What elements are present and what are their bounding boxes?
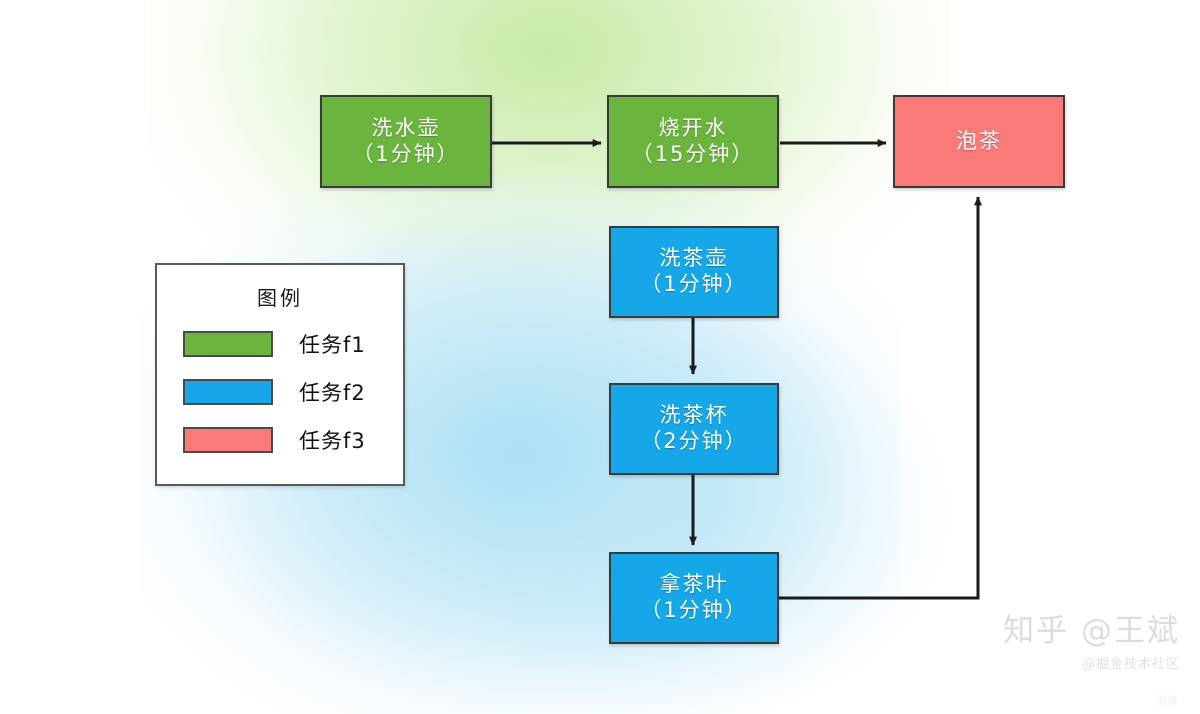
node-make-tea-name: 泡茶	[956, 129, 1002, 155]
edge-get-tealeaf-to-make-tea	[778, 197, 978, 598]
node-get-tealeaf[interactable]: 拿茶叶 （1分钟）	[609, 552, 779, 644]
background-glow-blue-secondary	[430, 300, 950, 714]
legend-item-f1: 任务f1	[157, 329, 403, 359]
node-boil-water[interactable]: 烧开水 （15分钟）	[607, 95, 779, 188]
legend-swatch-f2	[183, 379, 273, 405]
node-boil-water-duration: （15分钟）	[632, 142, 755, 168]
watermark-main-text: 知乎 @王斌	[1003, 616, 1180, 647]
node-get-tealeaf-duration: （1分钟）	[640, 598, 747, 624]
node-wash-kettle-duration: （1分钟）	[352, 142, 459, 168]
node-wash-teacup-duration: （2分钟）	[640, 429, 747, 455]
node-wash-teacup-name: 洗茶杯	[660, 403, 729, 429]
node-wash-teapot-duration: （1分钟）	[640, 272, 747, 298]
legend-label-f1: 任务f1	[299, 329, 366, 359]
node-boil-water-name: 烧开水	[659, 116, 728, 142]
legend-title: 图例	[157, 282, 403, 311]
node-wash-kettle[interactable]: 洗水壶 （1分钟）	[320, 95, 492, 188]
node-wash-teapot[interactable]: 洗茶壶 （1分钟）	[609, 226, 779, 318]
node-wash-kettle-name: 洗水壶	[372, 116, 441, 142]
node-get-tealeaf-name: 拿茶叶	[660, 572, 729, 598]
legend-swatch-f3	[183, 427, 273, 453]
legend-item-f3: 任务f3	[157, 425, 403, 455]
watermark-ghost-text: 泡茶	[1156, 692, 1178, 708]
node-wash-teapot-name: 洗茶壶	[660, 246, 729, 272]
watermark-sub-text: @掘金技术社区	[1003, 653, 1180, 672]
legend-item-f2: 任务f2	[157, 377, 403, 407]
node-make-tea[interactable]: 泡茶	[893, 95, 1065, 188]
legend-label-f3: 任务f3	[299, 425, 366, 455]
diagram-canvas: 洗水壶 （1分钟） 烧开水 （15分钟） 泡茶 洗茶壶 （1分钟） 洗茶杯 （2…	[0, 0, 1200, 714]
watermark: 知乎 @王斌 @掘金技术社区	[1003, 616, 1180, 672]
legend-label-f2: 任务f2	[299, 377, 366, 407]
legend-panel: 图例 任务f1 任务f2 任务f3	[155, 263, 405, 486]
node-wash-teacup[interactable]: 洗茶杯 （2分钟）	[609, 383, 779, 475]
legend-swatch-f1	[183, 331, 273, 357]
